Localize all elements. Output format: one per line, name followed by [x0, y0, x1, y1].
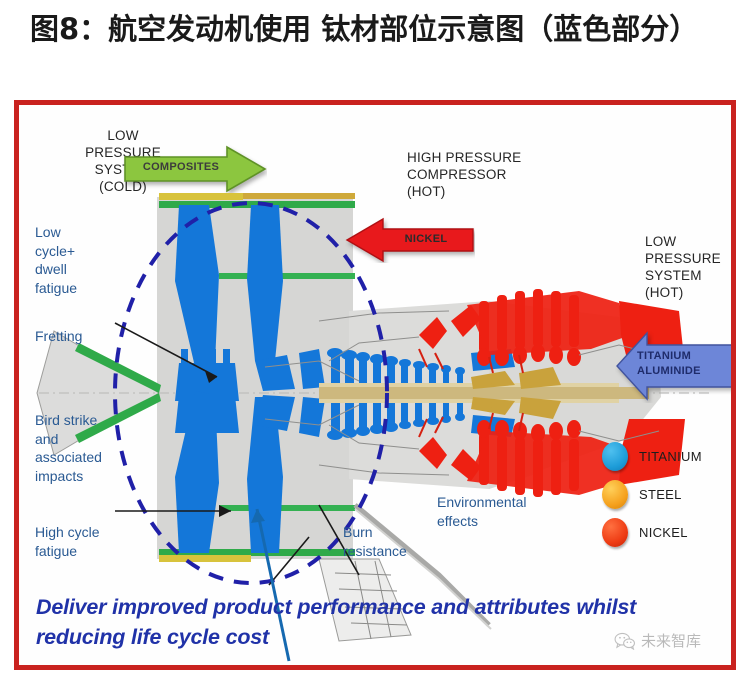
watermark-text: 未来智库: [641, 630, 701, 651]
title-block: 图8：航空发动机使用 钛材部位示意图（蓝色部分）: [0, 0, 750, 100]
legend: TITANIUM STEEL NICKEL: [602, 437, 732, 551]
arrow-nickel-label: NICKEL: [361, 233, 491, 245]
callout-high-cycle-fatigue: High cycle fatigue: [35, 523, 127, 560]
figure-frame: LOW PRESSURE SYSTEM (COLD) HIGH PRESSURE…: [14, 100, 736, 670]
label-high-pressure-compressor: HIGH PRESSURE COMPRESSOR (HOT): [407, 149, 582, 200]
figure-page: 图8：航空发动机使用 钛材部位示意图（蓝色部分）: [0, 0, 750, 679]
label-low-pressure-system-hot: LOW PRESSURE SYSTEM (HOT): [645, 233, 731, 301]
legend-label-nickel: NICKEL: [639, 525, 688, 540]
watermark: 未来智库: [614, 630, 701, 651]
arrow-nickel: NICKEL: [345, 217, 475, 263]
legend-swatch-steel: [602, 480, 628, 509]
legend-label-titanium: TITANIUM: [639, 449, 702, 464]
tagline: Deliver improved product performance and…: [36, 592, 696, 652]
page-title: 图8：航空发动机使用 钛材部位示意图（蓝色部分）: [30, 8, 730, 50]
wechat-icon: [614, 632, 636, 650]
legend-swatch-nickel: [602, 518, 628, 547]
legend-item-titanium: TITANIUM: [602, 437, 732, 475]
legend-label-steel: STEEL: [639, 487, 682, 502]
callout-environmental-effects: Environmental effects: [437, 493, 549, 530]
legend-swatch-titanium: [602, 442, 628, 471]
callout-low-cycle-dwell-fatigue: Low cycle+ dwell fatigue: [35, 223, 121, 297]
legend-item-steel: STEEL: [602, 475, 732, 513]
callout-burn-resistance: Burn resistance: [343, 523, 435, 560]
callout-fretting: Fretting: [35, 327, 127, 346]
arrow-titanium-aluminide: TITANIUM ALUMINIDE: [615, 329, 731, 403]
callout-bird-strike: Bird strike and associated impacts: [35, 411, 131, 485]
legend-item-nickel: NICKEL: [602, 513, 732, 551]
arrow-composites: COMPOSITES: [123, 145, 267, 193]
figure-canvas: LOW PRESSURE SYSTEM (COLD) HIGH PRESSURE…: [19, 105, 731, 665]
arrow-titanium-aluminide-label: TITANIUM ALUMINIDE: [637, 349, 731, 379]
arrow-composites-label: COMPOSITES: [109, 161, 253, 173]
